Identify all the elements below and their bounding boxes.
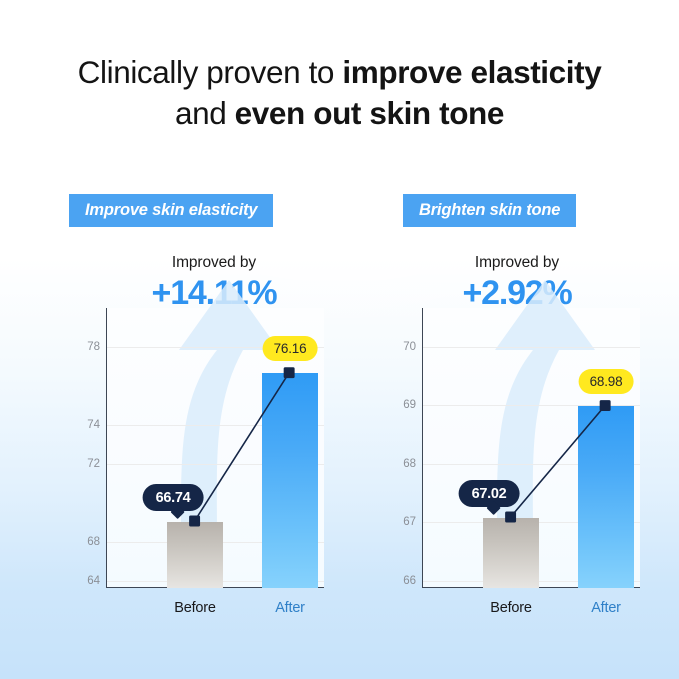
y-axis-tick-label: 69 bbox=[403, 399, 416, 411]
x-axis-label-after: After bbox=[591, 600, 621, 616]
gridline bbox=[423, 347, 640, 348]
x-axis-label-before: Before bbox=[174, 600, 216, 616]
y-axis-tick-label: 72 bbox=[87, 458, 100, 470]
bar-chart-skin-tone: 7069686766 67.02 68.98 Before After bbox=[382, 308, 640, 588]
y-axis-tick-label: 74 bbox=[87, 419, 100, 431]
value-tooltip-after: 68.98 bbox=[579, 369, 634, 394]
panel-badge-elasticity: Improve skin elasticity bbox=[69, 194, 273, 227]
headline-line1: Clinically proven to improve elasticity bbox=[78, 54, 602, 90]
bar-after bbox=[578, 406, 634, 588]
chart-panel-elasticity: Improve skin elasticity Improved by +14.… bbox=[40, 186, 340, 641]
plot-area: 7069686766 67.02 68.98 Before After bbox=[422, 308, 640, 588]
bar-before bbox=[167, 522, 223, 588]
chart-panel-skin-tone: Brighten skin tone Improved by +2.92% 70… bbox=[356, 186, 656, 641]
value-tooltip-before: 66.74 bbox=[143, 484, 204, 511]
value-tooltip-before: 67.02 bbox=[459, 480, 520, 507]
y-axis-tick-label: 70 bbox=[403, 341, 416, 353]
panel-badge-skin-tone: Brighten skin tone bbox=[403, 194, 576, 227]
headline-line2-bold: even out skin tone bbox=[235, 95, 504, 131]
headline-line1-plain: Clinically proven to bbox=[78, 54, 343, 90]
headline-line2: and even out skin tone bbox=[175, 95, 504, 131]
bar-before bbox=[483, 518, 539, 588]
page-title: Clinically proven to improve elasticity … bbox=[0, 52, 679, 134]
improved-by-label: Improved by bbox=[386, 254, 648, 272]
bar-chart-elasticity: 7874726864 66.74 76.16 Before After bbox=[66, 308, 324, 588]
plot-area: 7874726864 66.74 76.16 Before After bbox=[106, 308, 324, 588]
headline-line2-plain: and bbox=[175, 95, 235, 131]
x-axis-label-before: Before bbox=[490, 600, 532, 616]
infographic-page: Clinically proven to improve elasticity … bbox=[0, 0, 679, 679]
improvement-percent-value: +2.92% bbox=[386, 274, 648, 312]
y-axis-tick-label: 67 bbox=[403, 516, 416, 528]
headline-line1-bold: improve elasticity bbox=[342, 54, 601, 90]
y-axis-tick-label: 66 bbox=[403, 575, 416, 587]
improvement-callout-elasticity: Improved by +14.11% bbox=[88, 254, 340, 312]
x-axis-label-after: After bbox=[275, 600, 305, 616]
improvement-percent-value: +14.11% bbox=[88, 274, 340, 312]
improved-by-label: Improved by bbox=[88, 254, 340, 272]
y-axis-tick-label: 64 bbox=[87, 575, 100, 587]
y-axis-tick-label: 78 bbox=[87, 341, 100, 353]
y-axis-tick-label: 68 bbox=[403, 458, 416, 470]
bar-after bbox=[262, 373, 318, 588]
improvement-callout-skin-tone: Improved by +2.92% bbox=[386, 254, 648, 312]
value-tooltip-after: 76.16 bbox=[263, 336, 318, 361]
y-axis-tick-label: 68 bbox=[87, 536, 100, 548]
